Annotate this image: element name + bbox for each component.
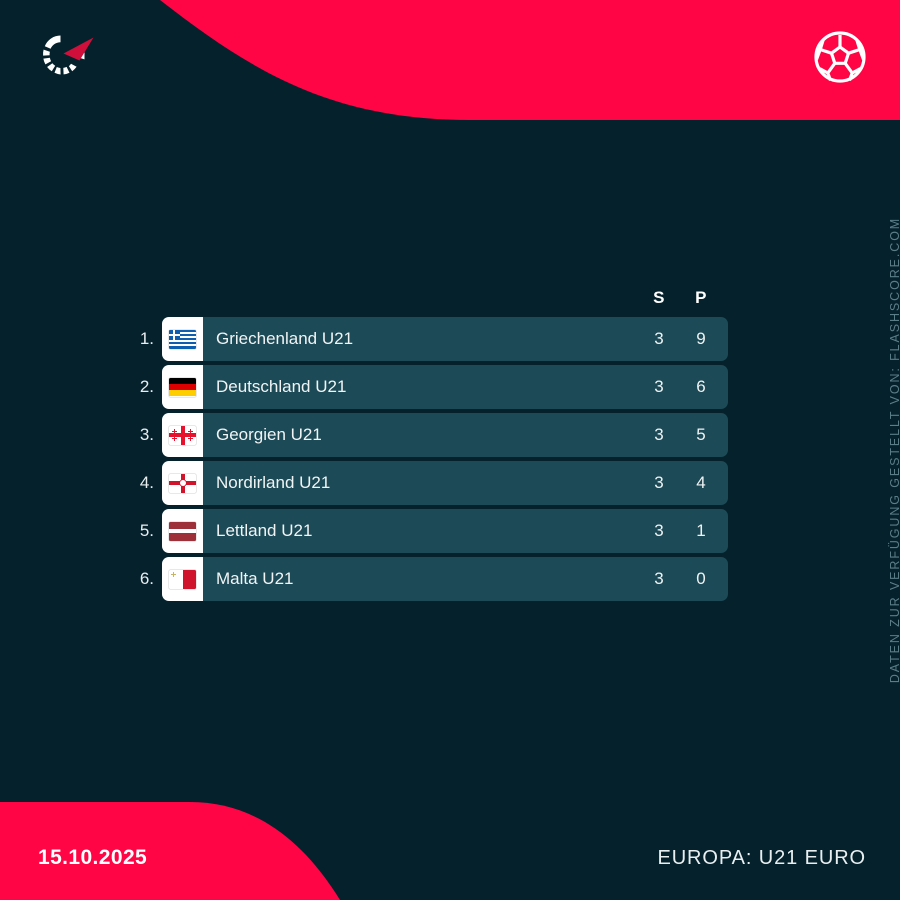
germany-flag	[169, 378, 196, 397]
team-name: Nordirland U21	[216, 461, 330, 505]
team-name: Lettland U21	[216, 509, 312, 553]
table-row[interactable]: 6. Malta U21 3 0	[162, 557, 728, 601]
standings-table: S P 1. Griechenland U21 3 9 2. Deutschla…	[0, 0, 900, 900]
column-headers: S P	[0, 288, 900, 312]
team-name: Malta U21	[216, 557, 293, 601]
column-header-played: S	[644, 288, 674, 308]
team-name: Deutschland U21	[216, 365, 346, 409]
row-rank: 3.	[124, 413, 154, 457]
row-rank: 1.	[124, 317, 154, 361]
cell-played: 3	[644, 365, 674, 409]
northern-ireland-flag	[169, 474, 196, 493]
table-row[interactable]: 3. Georgien U21 3 5	[162, 413, 728, 457]
flashscore-logo	[30, 26, 102, 82]
cell-points: 6	[686, 365, 716, 409]
greece-flag	[169, 330, 196, 349]
latvia-flag	[169, 522, 196, 541]
flag-tile	[162, 557, 203, 601]
data-credit-text: DATEN ZUR VERFÜGUNG GESTELLT VON: FLASHS…	[888, 217, 900, 683]
cell-points: 9	[686, 317, 716, 361]
team-name: Georgien U21	[216, 413, 322, 457]
cell-played: 3	[644, 413, 674, 457]
match-date: 15.10.2025	[38, 846, 147, 870]
column-header-points: P	[686, 288, 716, 308]
georgia-flag	[169, 426, 196, 445]
cell-points: 5	[686, 413, 716, 457]
cell-points: 1	[686, 509, 716, 553]
table-row[interactable]: 5. Lettland U21 3 1	[162, 509, 728, 553]
cell-played: 3	[644, 557, 674, 601]
flag-tile	[162, 461, 203, 505]
flag-tile	[162, 365, 203, 409]
cell-played: 3	[644, 509, 674, 553]
table-row[interactable]: 2. Deutschland U21 3 6	[162, 365, 728, 409]
row-rank: 6.	[124, 557, 154, 601]
cell-played: 3	[644, 317, 674, 361]
cell-played: 3	[644, 461, 674, 505]
flag-tile	[162, 413, 203, 457]
malta-flag	[169, 570, 196, 589]
row-rank: 4.	[124, 461, 154, 505]
row-rank: 2.	[124, 365, 154, 409]
soccer-ball-icon	[810, 27, 870, 87]
cell-points: 4	[686, 461, 716, 505]
competition-name: EUROPA: U21 EURO	[657, 847, 866, 870]
cell-points: 0	[686, 557, 716, 601]
flag-tile	[162, 317, 203, 361]
table-row[interactable]: 1. Griechenland U21 3 9	[162, 317, 728, 361]
flag-tile	[162, 509, 203, 553]
team-name: Griechenland U21	[216, 317, 353, 361]
table-row[interactable]: 4. Nordirland U21 3 4	[162, 461, 728, 505]
row-rank: 5.	[124, 509, 154, 553]
